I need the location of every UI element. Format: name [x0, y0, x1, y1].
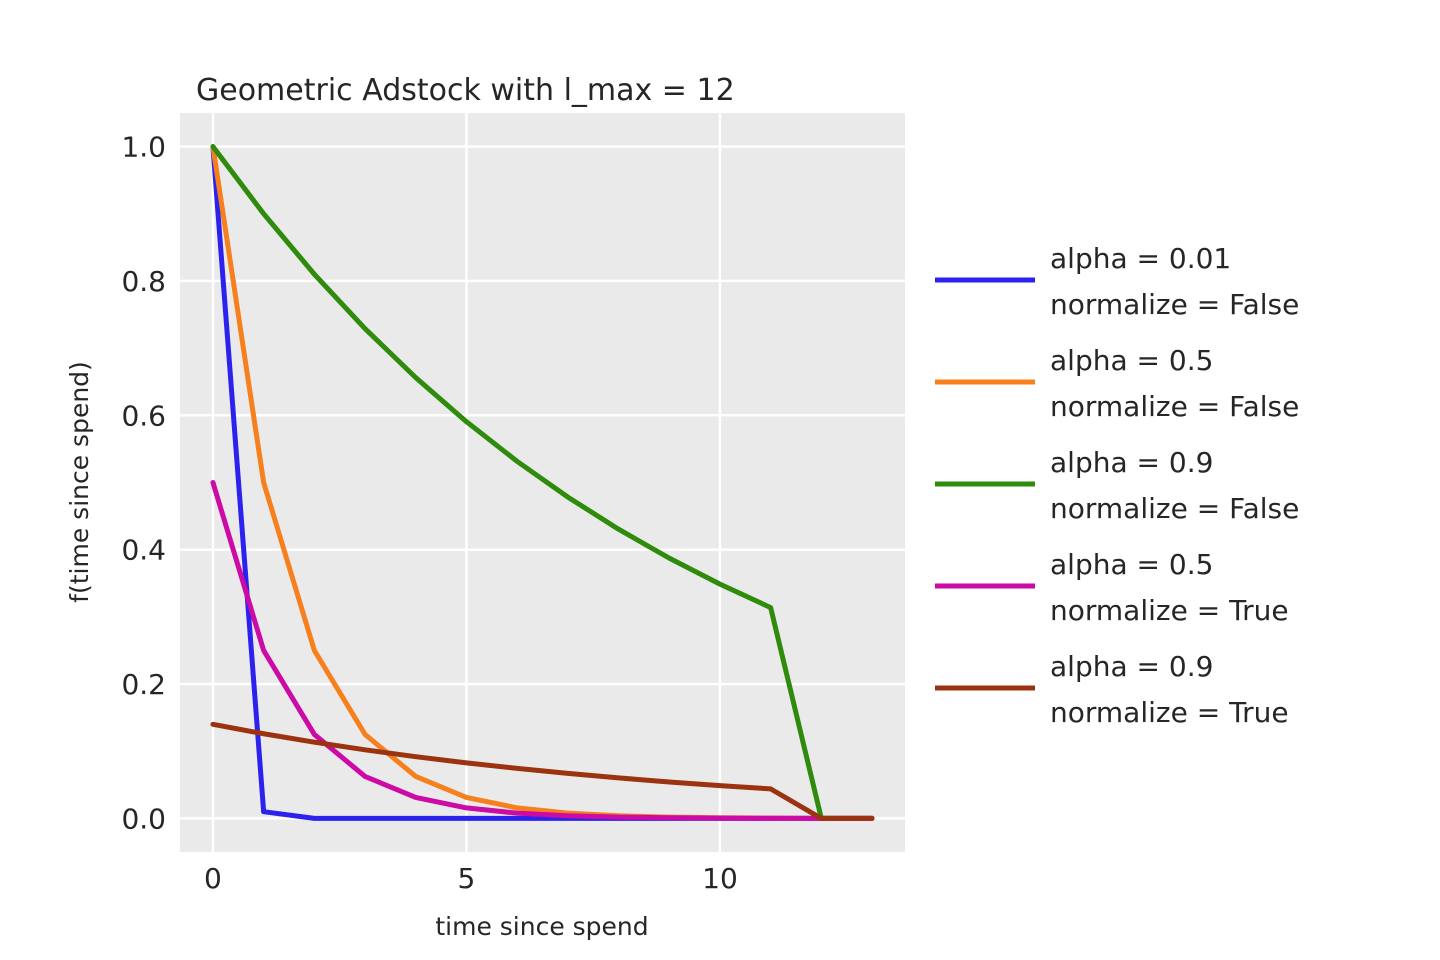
chart-title: Geometric Adstock with l_max = 12	[196, 73, 735, 108]
legend-label-alpha-2: alpha = 0.9	[1050, 446, 1213, 479]
legend-label-normalize-3: normalize = True	[1050, 594, 1289, 627]
x-tick-label-1: 5	[458, 862, 476, 895]
y-tick-label-5: 1.0	[121, 131, 166, 164]
legend-label-alpha-3: alpha = 0.5	[1050, 548, 1213, 581]
y-tick-label-3: 0.6	[121, 399, 166, 432]
legend-label-normalize-1: normalize = False	[1050, 390, 1299, 423]
x-tick-label-2: 10	[702, 862, 738, 895]
legend-label-normalize-0: normalize = False	[1050, 288, 1299, 321]
legend-label-normalize-2: normalize = False	[1050, 492, 1299, 525]
y-tick-label-4: 0.8	[121, 265, 166, 298]
y-tick-label-0: 0.0	[121, 802, 166, 835]
legend-label-alpha-0: alpha = 0.01	[1050, 242, 1231, 275]
y-tick-label-1: 0.2	[121, 668, 166, 701]
geometric-adstock-line-chart: 0510 0.00.20.40.60.81.0 Geometric Adstoc…	[0, 0, 1440, 960]
x-axis-label: time since spend	[435, 912, 648, 941]
legend-label-alpha-4: alpha = 0.9	[1050, 650, 1213, 683]
x-tick-label-0: 0	[204, 862, 222, 895]
plot-area-background	[180, 113, 905, 852]
legend-label-normalize-4: normalize = True	[1050, 696, 1289, 729]
y-axis-label: f(time since spend)	[65, 361, 94, 603]
y-tick-label-2: 0.4	[121, 534, 166, 567]
legend-label-alpha-1: alpha = 0.5	[1050, 344, 1213, 377]
chart-figure: 0510 0.00.20.40.60.81.0 Geometric Adstoc…	[0, 0, 1440, 960]
